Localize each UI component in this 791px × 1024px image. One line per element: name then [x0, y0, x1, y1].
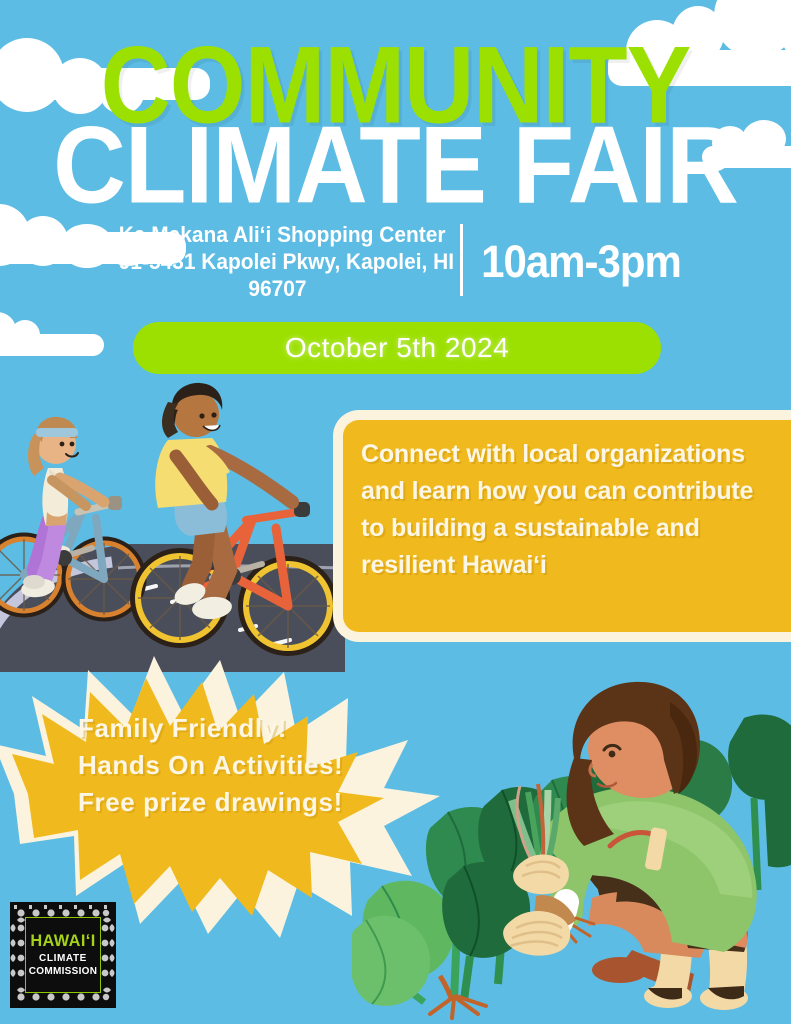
info-callout-box: Connect with local organizations and lea…	[333, 410, 791, 642]
venue-line-2: 91-5431 Kapolei Pkwy, Kapolei, HI	[119, 249, 436, 276]
starburst-callout: Family Friendly! Hands On Activities! Fr…	[0, 648, 482, 940]
info-callout-text: Connect with local organizations and lea…	[361, 436, 791, 584]
info-line-1: Connect with local organizations	[361, 436, 791, 473]
poster-title-line-2: CLIMATE FAIR	[0, 119, 791, 213]
info-line-4: resilient Hawaiʻi	[361, 547, 791, 584]
info-line-2: and learn how you can contribute	[361, 473, 791, 510]
starburst-text: Family Friendly! Hands On Activities! Fr…	[78, 710, 418, 821]
event-time: 10am-3pm	[463, 236, 681, 288]
logo-inner-box: HAWAIʻI CLIMATE COMMISSION	[25, 917, 101, 993]
cloud-lower-left-icon	[0, 312, 104, 356]
venue-line-3: 96707	[119, 276, 436, 303]
venue-line-1: Ka Makana Aliʻi Shopping Center	[119, 222, 436, 249]
venue-address: Ka Makana Aliʻi Shopping Center 91-5431 …	[119, 222, 452, 302]
event-date-text: October 5th 2024	[285, 332, 509, 364]
starburst-line-3: Free prize drawings!	[78, 784, 418, 821]
logo-hawaii-text: HAWAIʻI	[30, 932, 95, 949]
cyclists-illustration	[0, 372, 345, 672]
logo-commission-text: COMMISSION	[29, 966, 98, 978]
event-details-row: Ka Makana Aliʻi Shopping Center 91-5431 …	[0, 222, 791, 302]
poster-canvas: COMMUNITY CLIMATE FAIR Ka Makana Aliʻi S…	[0, 0, 791, 1024]
starburst-line-2: Hands On Activities!	[78, 747, 418, 784]
hawaii-climate-commission-logo: HAWAIʻI CLIMATE COMMISSION	[10, 902, 116, 1008]
logo-climate-text: CLIMATE	[39, 953, 87, 966]
starburst-line-1: Family Friendly!	[78, 710, 418, 747]
info-line-3: to building a sustainable and	[361, 510, 791, 547]
event-date-banner: October 5th 2024	[133, 322, 661, 374]
